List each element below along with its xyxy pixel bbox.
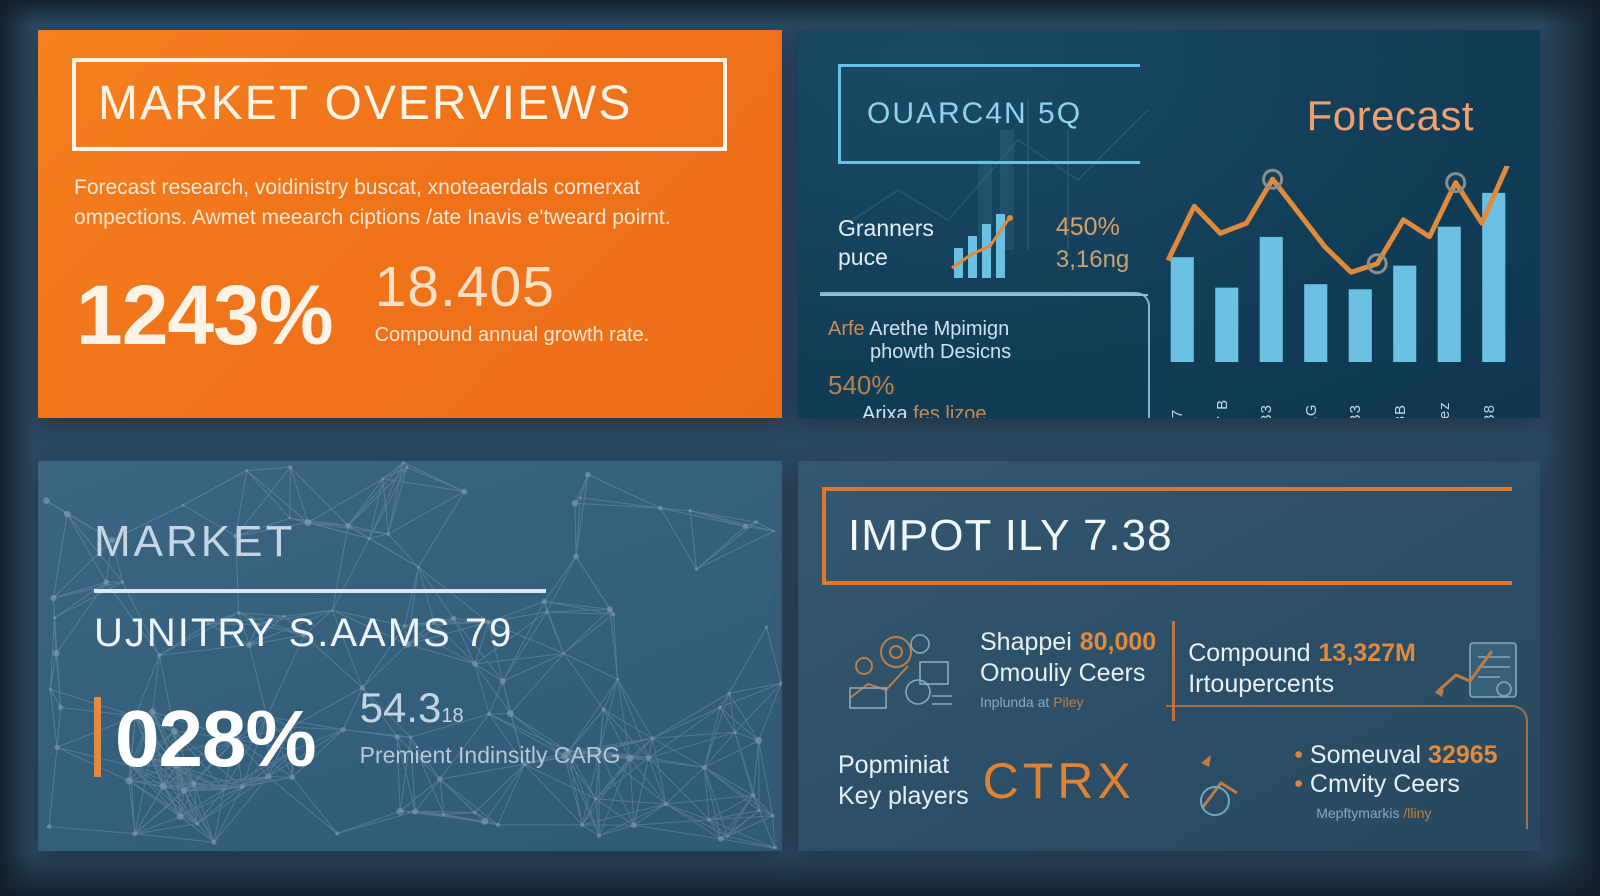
- metric-value-shappei: 80,000: [1080, 628, 1156, 656]
- forecast-title: OUARC4N 5Q: [867, 97, 1082, 131]
- chart-x-label: GAB3: [1258, 404, 1275, 418]
- metric-label1-shappei: Shappei: [980, 628, 1072, 656]
- chart-bar: [1438, 227, 1461, 362]
- panel-market-network: MARKET UJNITRY S.AAMS 79 028% 54.318 Pre…: [38, 461, 782, 851]
- forecast-kpi-value-1: 450%: [1056, 213, 1129, 242]
- metrics-corner-frame: [1166, 705, 1528, 829]
- metric-cell-shappei[interactable]: Shappei80,000 Omouliy Ceers Inplunda at …: [822, 615, 1172, 727]
- chart-x-label: doA7: [1169, 409, 1186, 418]
- panel-grid: MARKET OVERVIEWS Forecast research, void…: [38, 30, 1535, 850]
- chart-x-label: CIwez: [1436, 401, 1453, 418]
- panel-market-overview: MARKET OVERVIEWS Forecast research, void…: [38, 30, 782, 418]
- forecast-title-bracket: OUARC4N 5Q: [838, 64, 1140, 164]
- market-caption: Premient Indinsitly CARG: [360, 742, 621, 769]
- chart-bar: [1215, 288, 1238, 362]
- overview-stat-row: 1243% 18.405 Compound annual growth rate…: [72, 259, 748, 355]
- forecast-kpi-value-2: 3,16ng: [1056, 246, 1129, 274]
- bar-growth-icon: [1430, 631, 1526, 707]
- overview-secondary-value: 18.405: [375, 259, 650, 316]
- overview-body-text: Forecast research, voidinistry buscat, x…: [74, 173, 746, 233]
- chart-x-axis-labels: doA7CIIY BGAB3SPAGGAB3GA8BCIwezGAB8: [1160, 362, 1516, 418]
- metrics-grid: Shappei80,000 Omouliy Ceers Inplunda at …: [822, 615, 1510, 839]
- gears-chart-icon: [834, 626, 962, 712]
- metric-row2-key-players: Key players: [838, 782, 969, 811]
- forecast-note-text: Arfe Arethe Mpimign phowth Desicns 540% …: [828, 318, 1148, 418]
- metric-row2-shappei: Omouliy Ceers: [980, 659, 1156, 688]
- metric-sub-accent-shappei: Piley: [1053, 694, 1083, 710]
- metric-sub-shappei: Inplunda at Piley: [980, 694, 1156, 710]
- metrics-title-bracket: IMPOT ILY 7.38: [822, 487, 1512, 585]
- metric-text-shappei: Shappei80,000 Omouliy Ceers Inplunda at …: [976, 628, 1156, 710]
- chart-x-label: GA8B: [1392, 404, 1409, 418]
- forecast-note-line1-text: Arethe Mpimign: [869, 318, 1009, 340]
- overview-caption: Compound annual growth rate.: [375, 324, 650, 347]
- metric-label1-compound: Compound: [1188, 639, 1310, 667]
- forecast-kpi-label: Granners puce: [838, 214, 934, 271]
- overview-secondary-stat: 18.405 Compound annual growth rate.: [375, 259, 650, 355]
- chart-x-label: SPAG: [1303, 403, 1320, 418]
- forecast-note-line-4: Arixa fes lizoe: [862, 403, 1148, 418]
- forecast-note-line-1: Arfe Arethe Mpimign: [828, 318, 1148, 341]
- panel-forecast-chart: OUARC4N 5Q Forecast Granners puce: [798, 30, 1540, 418]
- metric-text-compound: Compound13,327M Irtoupercents: [1184, 639, 1416, 699]
- panel-impact-metrics: IMPOT ILY 7.38: [798, 461, 1540, 851]
- metrics-title: IMPOT ILY 7.38: [848, 511, 1173, 561]
- metric-text-key-players: Popminiat Key players: [834, 751, 969, 811]
- market-subtitle: UJNITRY S.AAMS 79: [94, 611, 782, 656]
- market-caption-accent: CARG: [554, 742, 620, 768]
- overview-primary-value: 1243%: [76, 277, 333, 354]
- forecast-note-accent: Arfe: [828, 318, 865, 340]
- forecast-note-line4-accent: fes lizoe: [913, 403, 986, 418]
- metric-row1-compound: Compound13,327M: [1188, 639, 1416, 668]
- forecast-kpi-label-2: puce: [838, 243, 934, 272]
- slide-canvas: MARKET OVERVIEWS Forecast research, void…: [0, 0, 1600, 896]
- market-secondary-value: 54.318: [360, 684, 621, 732]
- forecast-note-line-3: 540%: [828, 370, 1148, 401]
- market-caption-text: Premient Indinsitly: [360, 742, 548, 768]
- network-content: MARKET UJNITRY S.AAMS 79 028% 54.318 Pre…: [94, 517, 782, 777]
- forecast-note-line-2: phowth Desicns: [870, 341, 1148, 364]
- chart-bar: [1304, 284, 1327, 362]
- forecast-note-line4-text: Arixa: [862, 403, 908, 418]
- market-primary-value: 028%: [115, 701, 316, 777]
- metric-cell-key-players[interactable]: Popminiat Key players CTRX: [822, 727, 1172, 839]
- chart-x-label: CIIY B: [1214, 399, 1231, 418]
- page-title: MARKET OVERVIEWS: [98, 76, 701, 131]
- market-title: MARKET: [94, 517, 782, 567]
- metric-value-compound: 13,327M: [1319, 639, 1416, 667]
- chart-bar: [1260, 237, 1283, 362]
- metric-row1-shappei: Shappei80,000: [980, 628, 1156, 657]
- metric-sub-text-shappei: Inplunda at: [980, 694, 1049, 710]
- market-mid-suffix: 18: [441, 705, 463, 727]
- mini-bar-chart-icon: [950, 206, 1036, 280]
- chart-bar: [1393, 266, 1416, 362]
- market-divider: [94, 589, 546, 593]
- chart-bar: [1349, 289, 1372, 362]
- ctrx-logo-icon: CTRX: [983, 752, 1135, 810]
- market-stat-row: 028% 54.318 Premient Indinsitly CARG: [94, 684, 782, 777]
- forecast-word: Forecast: [1307, 92, 1474, 140]
- chart-x-label: GAB3: [1347, 404, 1364, 418]
- chart-x-label: GAB8: [1481, 404, 1498, 418]
- market-accent-bar: [94, 697, 101, 777]
- overview-title-box: MARKET OVERVIEWS: [72, 58, 727, 151]
- market-mid-value: 54.3: [360, 684, 442, 731]
- market-secondary-stat: 54.318 Premient Indinsitly CARG: [360, 684, 621, 777]
- chart-bar: [1171, 257, 1194, 362]
- forecast-kpi-label-1: Granners: [838, 214, 934, 243]
- metric-row1-key-players: Popminiat: [838, 751, 969, 780]
- forecast-kpi-block: Granners puce 450% 3,16ng: [838, 206, 1129, 280]
- forecast-kpi-values: 450% 3,16ng: [1056, 213, 1129, 274]
- metric-row2-compound: Irtoupercents: [1188, 670, 1416, 699]
- metric-cell-someuval[interactable]: Someuval 32965 Cmvity Ceers Mepftymarkis…: [1172, 727, 1540, 839]
